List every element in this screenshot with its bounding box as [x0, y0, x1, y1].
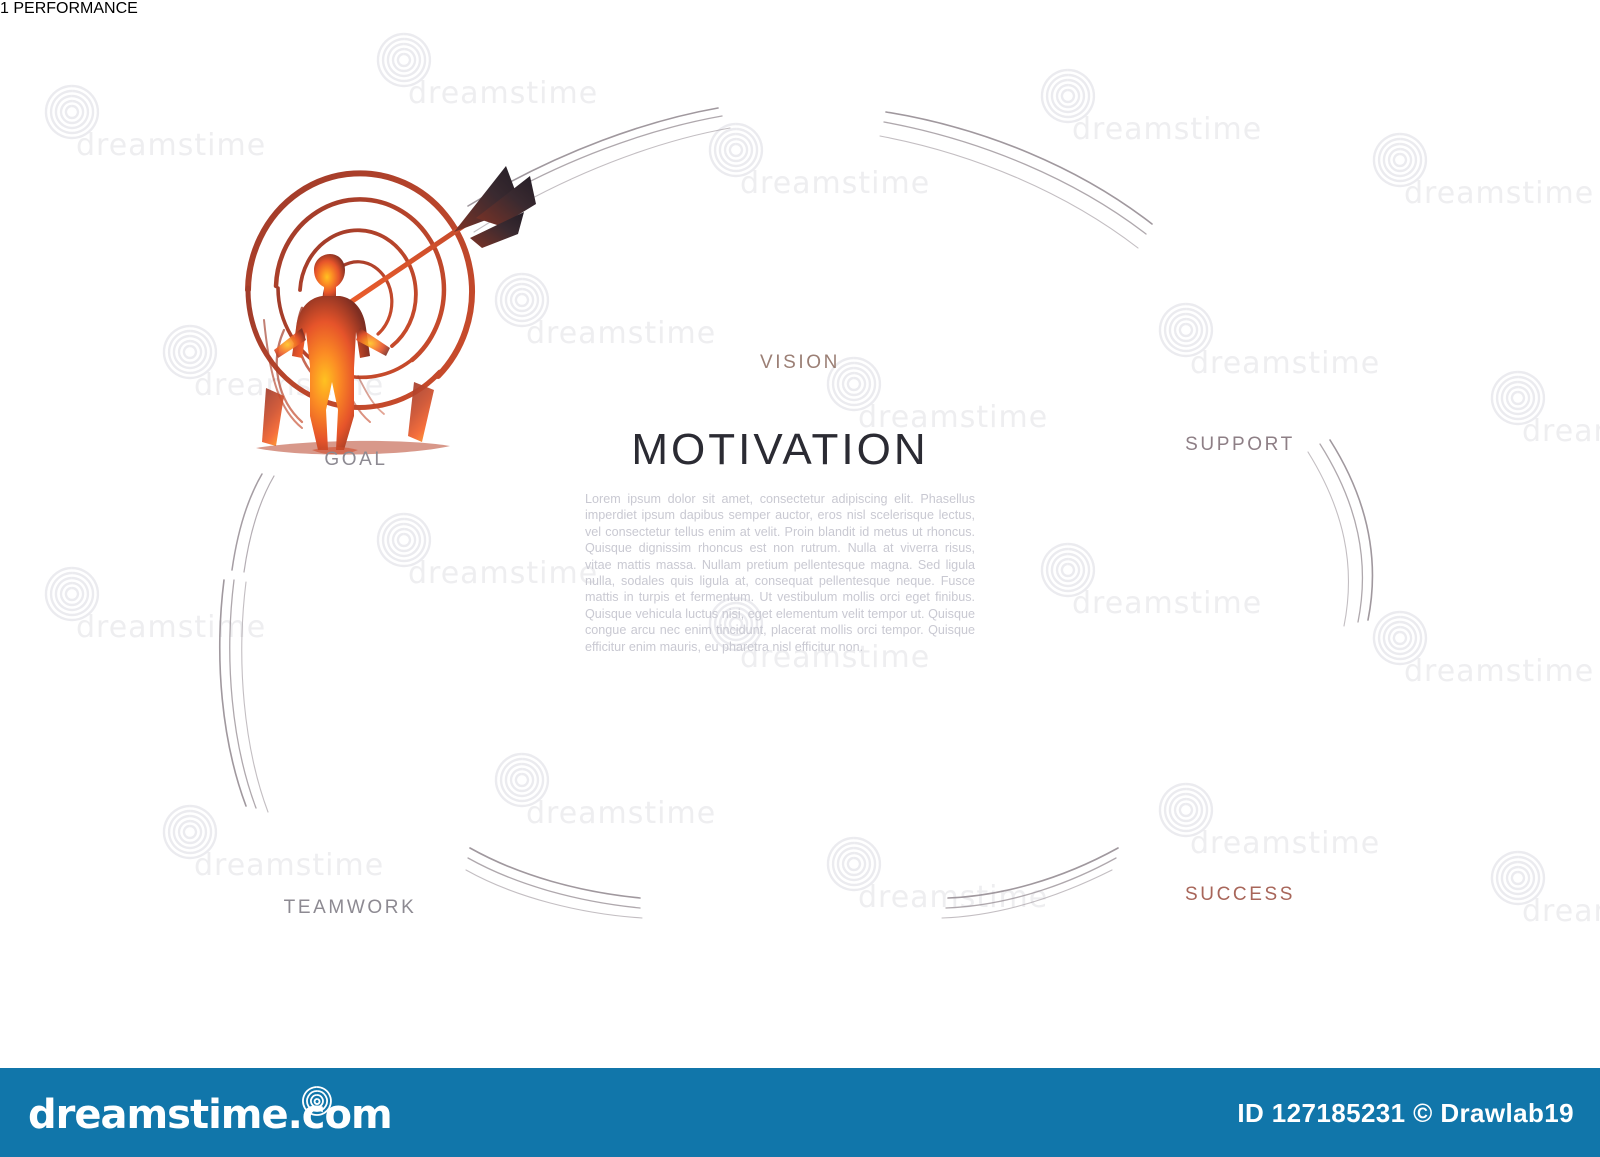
dreamstime-logo-text: dreamstime.com: [28, 1092, 392, 1138]
connector-success-performance: [942, 848, 1118, 918]
node-label-teamwork: TEAMWORK: [240, 897, 460, 919]
target-archer-icon: [248, 166, 536, 455]
archer-person: [274, 254, 390, 450]
page-title: MOTIVATION: [560, 425, 1000, 475]
node-label-vision: VISION: [700, 352, 900, 374]
center-text-block: MOTIVATION Lorem ipsum dolor sit amet, c…: [560, 425, 1000, 655]
node-label-support: SUPPORT: [1140, 434, 1340, 456]
connector-support-success: [1308, 440, 1372, 626]
connector-teamwork-goal: [220, 474, 274, 812]
center-description: Lorem ipsum dolor sit amet, consectetur …: [585, 491, 975, 655]
node-label-success: SUCCESS: [1140, 884, 1340, 906]
infographic-canvas: dreamstime dreamstime dreamstime dreamst…: [0, 0, 1600, 1157]
stock-watermark-footer: dreamstime.com ID 127185231 © Drawlab19: [0, 1068, 1600, 1157]
dreamstime-spiral-icon: [300, 1084, 334, 1118]
image-id-credit: ID 127185231 © Drawlab19: [1237, 1098, 1574, 1129]
connector-vision-support: [880, 112, 1152, 248]
connector-performance-teamwork: [466, 848, 642, 918]
node-label-goal: GOAL: [256, 449, 456, 471]
